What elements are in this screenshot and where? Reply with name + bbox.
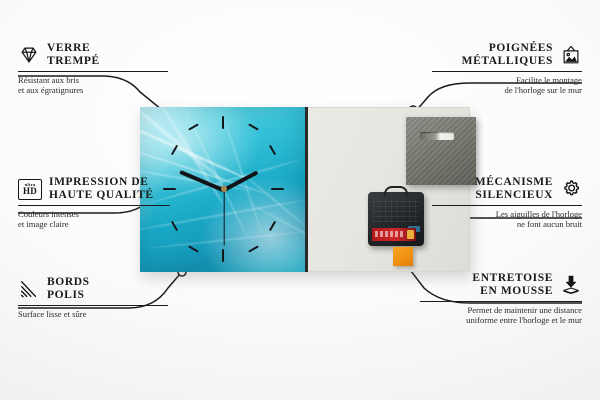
feature-divider <box>432 71 582 72</box>
feature-divider <box>432 205 582 206</box>
clock-second-hand <box>223 190 224 246</box>
clock-tick-7 <box>188 245 199 252</box>
feature-title-line1: BORDS <box>47 276 90 288</box>
feature-title-line1: ENTRETOISE <box>472 272 553 284</box>
feature-bords-polis: BORDS POLIS Surface lisse et sûre <box>18 276 168 319</box>
clock-tick-3 <box>271 188 284 190</box>
feature-title-line1: IMPRESSION DE <box>49 176 149 188</box>
polished-edge-icon <box>18 278 40 300</box>
feature-title-line2: EN MOUSSE <box>480 285 553 297</box>
feature-desc-line2: et aux égratignures <box>18 85 83 95</box>
clock-tick-12 <box>222 116 224 129</box>
feature-desc-line2: et image claire <box>18 219 69 229</box>
battery-label <box>375 231 405 237</box>
feature-verre-trempe: VERRE TREMPÉ Résistant aux bris et aux é… <box>18 42 168 96</box>
feature-title-line2: TREMPÉ <box>47 55 100 67</box>
clock-center-hub <box>221 186 227 192</box>
feature-desc-line1: Couleurs intenses <box>18 209 79 219</box>
feature-desc-line2: de l'horloge sur le mur <box>505 85 582 95</box>
battery-terminal <box>407 230 414 239</box>
feature-desc-line1: Permet de maintenir une distance <box>467 305 582 315</box>
gear-icon <box>560 178 582 200</box>
feature-title-line2: SILENCIEUX <box>475 189 553 201</box>
diamond-icon <box>18 44 40 66</box>
feature-divider <box>18 305 168 306</box>
battery <box>372 228 416 241</box>
feature-title-line1: VERRE <box>47 42 90 54</box>
feature-divider <box>18 205 170 206</box>
mechanism-hook <box>384 186 408 196</box>
foam-spacer <box>393 247 413 266</box>
wall-frame-icon <box>560 44 582 66</box>
feature-title-line2: MÉTALLIQUES <box>462 55 553 67</box>
feature-desc-line1: Surface lisse et sûre <box>18 309 87 319</box>
feature-title-line1: POIGNÉES <box>489 42 553 54</box>
feature-desc-line1: Facilite le montage <box>516 75 582 85</box>
ultra-hd-icon: ultra HD <box>18 179 42 200</box>
hd-badge-main: HD <box>23 187 37 196</box>
mechanism-texture <box>373 198 419 222</box>
feature-poignees: POIGNÉES MÉTALLIQUES Facilite le montage… <box>432 42 582 96</box>
infographic-canvas: VERRE TREMPÉ Résistant aux bris et aux é… <box>0 0 600 400</box>
feature-desc-line1: Résistant aux bris <box>18 75 79 85</box>
clock-tick-2 <box>269 145 276 156</box>
feature-title-line1: MÉCANISME <box>475 176 553 188</box>
feature-desc-line2: uniforme entre l'horloge et le mur <box>466 315 582 325</box>
feature-mecanisme: MÉCANISME SILENCIEUX Les aiguilles de l'… <box>432 176 582 230</box>
metal-hanger-plate <box>406 117 476 185</box>
clock-tick-6 <box>222 249 224 262</box>
product-image <box>140 107 470 272</box>
feature-divider <box>18 71 168 72</box>
clock-mechanism <box>368 192 424 246</box>
feature-entretoise: ENTRETOISE EN MOUSSE Permet de maintenir… <box>420 272 582 326</box>
hanger-slot <box>420 132 454 140</box>
feature-title-line2: POLIS <box>47 289 85 301</box>
feature-title-line2: HAUTE QUALITÉ <box>49 189 154 201</box>
foam-spacer-icon <box>560 274 582 296</box>
feature-desc-line2: ne font aucun bruit <box>517 219 582 229</box>
feature-divider <box>420 301 582 302</box>
feature-impression: ultra HD IMPRESSION DE HAUTE QUALITÉ Cou… <box>18 176 170 230</box>
feature-desc-line1: Les aiguilles de l'horloge <box>496 209 582 219</box>
